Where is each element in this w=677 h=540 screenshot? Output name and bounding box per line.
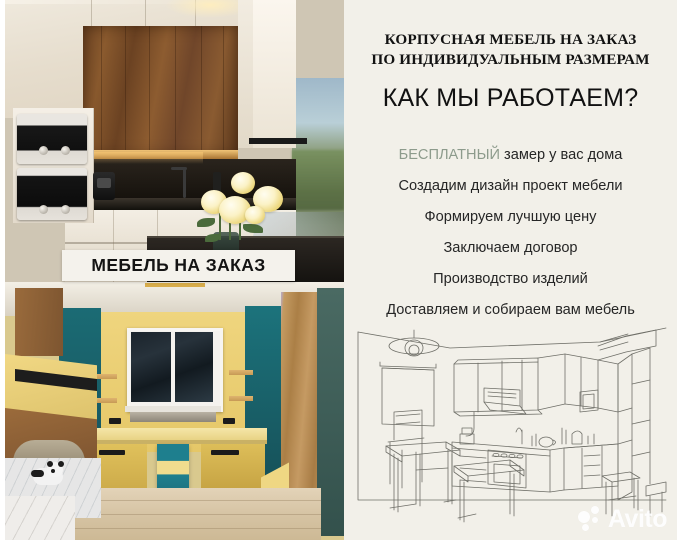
list-item: Создадим дизайн проект мебели [344, 171, 677, 202]
photo-column: МЕБЕЛЬ НА ЗАКАЗ [5, 0, 344, 540]
power-socket [109, 418, 121, 424]
tile-floor [5, 496, 75, 540]
chrysanthemum [245, 206, 265, 224]
cabinet-handle [99, 450, 125, 455]
kids-room-photo [5, 282, 344, 540]
furniture-label-banner: МЕБЕЛЬ НА ЗАКАЗ [62, 250, 295, 281]
wood-floor [65, 488, 321, 540]
under-cabinet-light [83, 152, 203, 164]
wall-shelf [229, 396, 253, 401]
steps-list: БЕСПЛАТНЫЙ замер у вас дома Создадим диз… [344, 140, 677, 326]
ad-creative: МЕБЕЛЬ НА ЗАКАЗ КОРПУСНАЯ МЕБЕЛЬ НА ЗАКА… [0, 0, 677, 540]
coffee-machine-panel [97, 178, 111, 188]
list-item: Производство изделий [344, 264, 677, 295]
free-highlight: БЕСПЛАТНЫЙ [399, 147, 500, 163]
avito-wordmark: Avito [608, 507, 667, 532]
built-in-oven-top [17, 114, 87, 164]
dark-green-wall [317, 288, 344, 536]
list-item-label: Создадим дизайн проект мебели [398, 178, 622, 194]
headline-line-2: ПО ИНДИВИДУАЛЬНЫМ РАЗМЕРАМ [344, 50, 677, 70]
window-foliage [292, 150, 344, 210]
chrysanthemum [231, 172, 255, 194]
list-item: Формируем лучшую цену [344, 202, 677, 233]
wall-shelf [95, 398, 117, 403]
avito-dots-logo [578, 506, 604, 532]
wall-shelf [229, 370, 253, 375]
headline-line-1: КОРПУСНАЯ МЕБЕЛЬ НА ЗАКАЗ [385, 31, 637, 48]
list-item-label: замер у вас дома [500, 147, 622, 163]
furniture-label-text: МЕБЕЛЬ НА ЗАКАЗ [91, 255, 265, 276]
headline: КОРПУСНАЯ МЕБЕЛЬ НА ЗАКАЗ ПО ИНДИВИДУАЛЬ… [344, 30, 677, 70]
faucet-spout [171, 167, 187, 170]
walnut-niche [83, 26, 238, 156]
power-socket [223, 418, 235, 424]
cabinet-column [253, 0, 296, 148]
cabinet-handle [211, 450, 239, 455]
page-title: КАК МЫ РАБОТАЕМ? [344, 84, 677, 113]
list-item: Заключаем договор [344, 233, 677, 264]
list-item-label: Заключаем договор [443, 240, 577, 256]
ceiling-light-strip [145, 283, 205, 287]
list-item-label: Производство изделий [433, 271, 588, 287]
window-mullion [171, 332, 175, 402]
desk-top [91, 428, 267, 440]
kitchen-line-drawing [350, 324, 672, 530]
list-item-label: Формируем лучшую цену [425, 209, 597, 225]
built-in-oven-bottom [17, 168, 87, 220]
list-item: БЕСПЛАТНЫЙ замер у вас дома [344, 140, 677, 171]
avito-watermark: Avito [578, 506, 667, 532]
wood-upper-cabinet [15, 288, 63, 356]
range-hood [249, 138, 307, 144]
wall-shelf [95, 374, 117, 379]
modern-kitchen-photo [5, 0, 344, 282]
faucet [183, 168, 186, 198]
radiator [130, 412, 216, 422]
list-item-label: Доставляем и собираем вам мебель [386, 302, 635, 318]
info-panel: КОРПУСНАЯ МЕБЕЛЬ НА ЗАКАЗ ПО ИНДИВИДУАЛЬ… [344, 0, 677, 540]
list-item: Доставляем и собираем вам мебель [344, 295, 677, 326]
